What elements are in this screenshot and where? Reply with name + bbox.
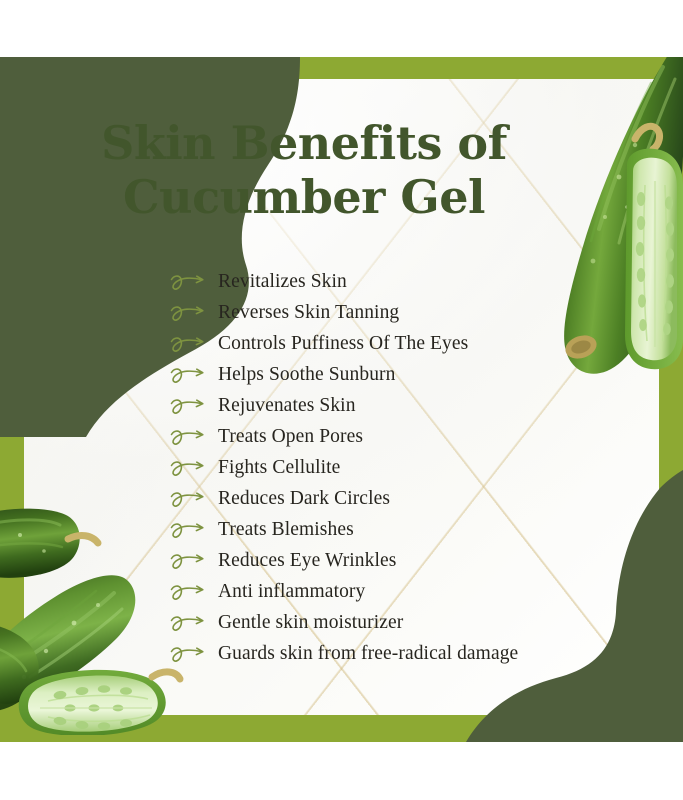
curly-arrow-icon [170,394,208,418]
benefit-label: Anti inflammatory [218,581,365,603]
frame-band-bottom [0,715,683,742]
benefit-item: Gentle skin moisturizer [170,607,590,638]
curly-arrow-icon [170,487,208,511]
poster-canvas: Skin Benefits of Cucumber Gel Revitalize… [0,0,683,800]
benefit-item: Revitalizes Skin [170,266,590,297]
curly-arrow-icon [170,642,208,666]
benefit-item: Helps Soothe Sunburn [170,359,590,390]
benefit-label: Guards skin from free-radical damage [218,643,518,665]
benefit-label: Revitalizes Skin [218,271,347,293]
benefit-item: Controls Puffiness Of The Eyes [170,328,590,359]
benefit-label: Reduces Eye Wrinkles [218,550,396,572]
benefit-item: Treats Open Pores [170,421,590,452]
curly-arrow-icon [170,611,208,635]
curly-arrow-icon [170,456,208,480]
curly-arrow-icon [170,270,208,294]
benefit-item: Rejuvenates Skin [170,390,590,421]
benefit-label: Controls Puffiness Of The Eyes [218,333,468,355]
poster-title: Skin Benefits of Cucumber Gel [24,116,584,224]
frame-band-right [659,57,683,742]
benefit-label: Rejuvenates Skin [218,395,356,417]
title-line-2: Cucumber Gel [24,170,584,224]
curly-arrow-icon [170,518,208,542]
frame-band-left [0,57,24,742]
title-line-1: Skin Benefits of [101,116,507,170]
benefit-label: Helps Soothe Sunburn [218,364,396,386]
benefit-item: Guards skin from free-radical damage [170,638,590,669]
curly-arrow-icon [170,549,208,573]
benefit-label: Reverses Skin Tanning [218,302,399,324]
benefit-label: Gentle skin moisturizer [218,612,403,634]
benefit-item: Reverses Skin Tanning [170,297,590,328]
benefit-item: Fights Cellulite [170,452,590,483]
benefit-label: Reduces Dark Circles [218,488,390,510]
benefit-item: Anti inflammatory [170,576,590,607]
curly-arrow-icon [170,425,208,449]
curly-arrow-icon [170,301,208,325]
benefit-item: Treats Blemishes [170,514,590,545]
benefit-item: Reduces Eye Wrinkles [170,545,590,576]
frame-band-top [0,57,683,79]
curly-arrow-icon [170,580,208,604]
curly-arrow-icon [170,363,208,387]
benefit-label: Fights Cellulite [218,457,340,479]
benefit-label: Treats Blemishes [218,519,354,541]
benefits-list: Revitalizes SkinReverses Skin TanningCon… [170,266,590,669]
benefit-label: Treats Open Pores [218,426,363,448]
curly-arrow-icon [170,332,208,356]
benefit-item: Reduces Dark Circles [170,483,590,514]
